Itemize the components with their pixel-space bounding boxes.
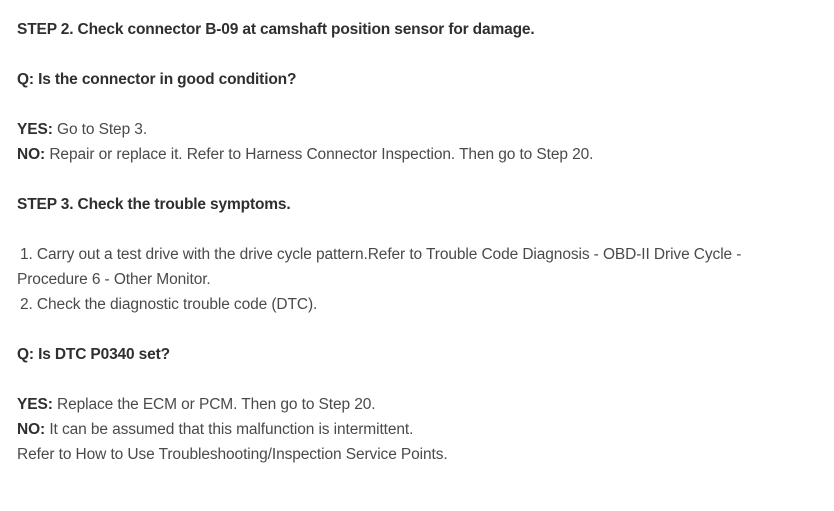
step-2-no-answer: NO: Repair or replace it. Refer to Harne… <box>17 142 824 167</box>
step-2-question: Q: Is the connector in good condition? <box>17 67 824 92</box>
spacer <box>17 42 824 67</box>
spacer <box>17 217 824 242</box>
step-3-yes-answer: YES: Replace the ECM or PCM. Then go to … <box>17 392 824 417</box>
no-text: It can be assumed that this malfunction … <box>45 421 413 438</box>
no-text: Repair or replace it. Refer to Harness C… <box>45 146 593 163</box>
yes-label: YES: <box>17 121 53 138</box>
step-3-heading: STEP 3. Check the trouble symptoms. <box>17 192 824 217</box>
step-3-no-answer: NO: It can be assumed that this malfunct… <box>17 417 824 442</box>
step-3-procedure-list: 1. Carry out a test drive with the drive… <box>17 242 807 317</box>
step-3-reference-line: Refer to How to Use Troubleshooting/Insp… <box>17 442 824 467</box>
yes-label: YES: <box>17 396 53 413</box>
spacer <box>17 167 824 192</box>
no-label: NO: <box>17 421 45 438</box>
spacer <box>17 367 824 392</box>
no-label: NO: <box>17 146 45 163</box>
list-item: 2. Check the diagnostic trouble code (DT… <box>17 292 807 317</box>
step-2-heading: STEP 2. Check connector B-09 at camshaft… <box>17 17 824 42</box>
list-item: 1. Carry out a test drive with the drive… <box>17 242 807 292</box>
step-3-question: Q: Is DTC P0340 set? <box>17 342 824 367</box>
troubleshooting-document: STEP 2. Check connector B-09 at camshaft… <box>0 0 834 511</box>
step-2-yes-answer: YES: Go to Step 3. <box>17 117 824 142</box>
spacer <box>17 92 824 117</box>
spacer <box>17 317 824 342</box>
yes-text: Go to Step 3. <box>53 121 147 138</box>
yes-text: Replace the ECM or PCM. Then go to Step … <box>53 396 376 413</box>
